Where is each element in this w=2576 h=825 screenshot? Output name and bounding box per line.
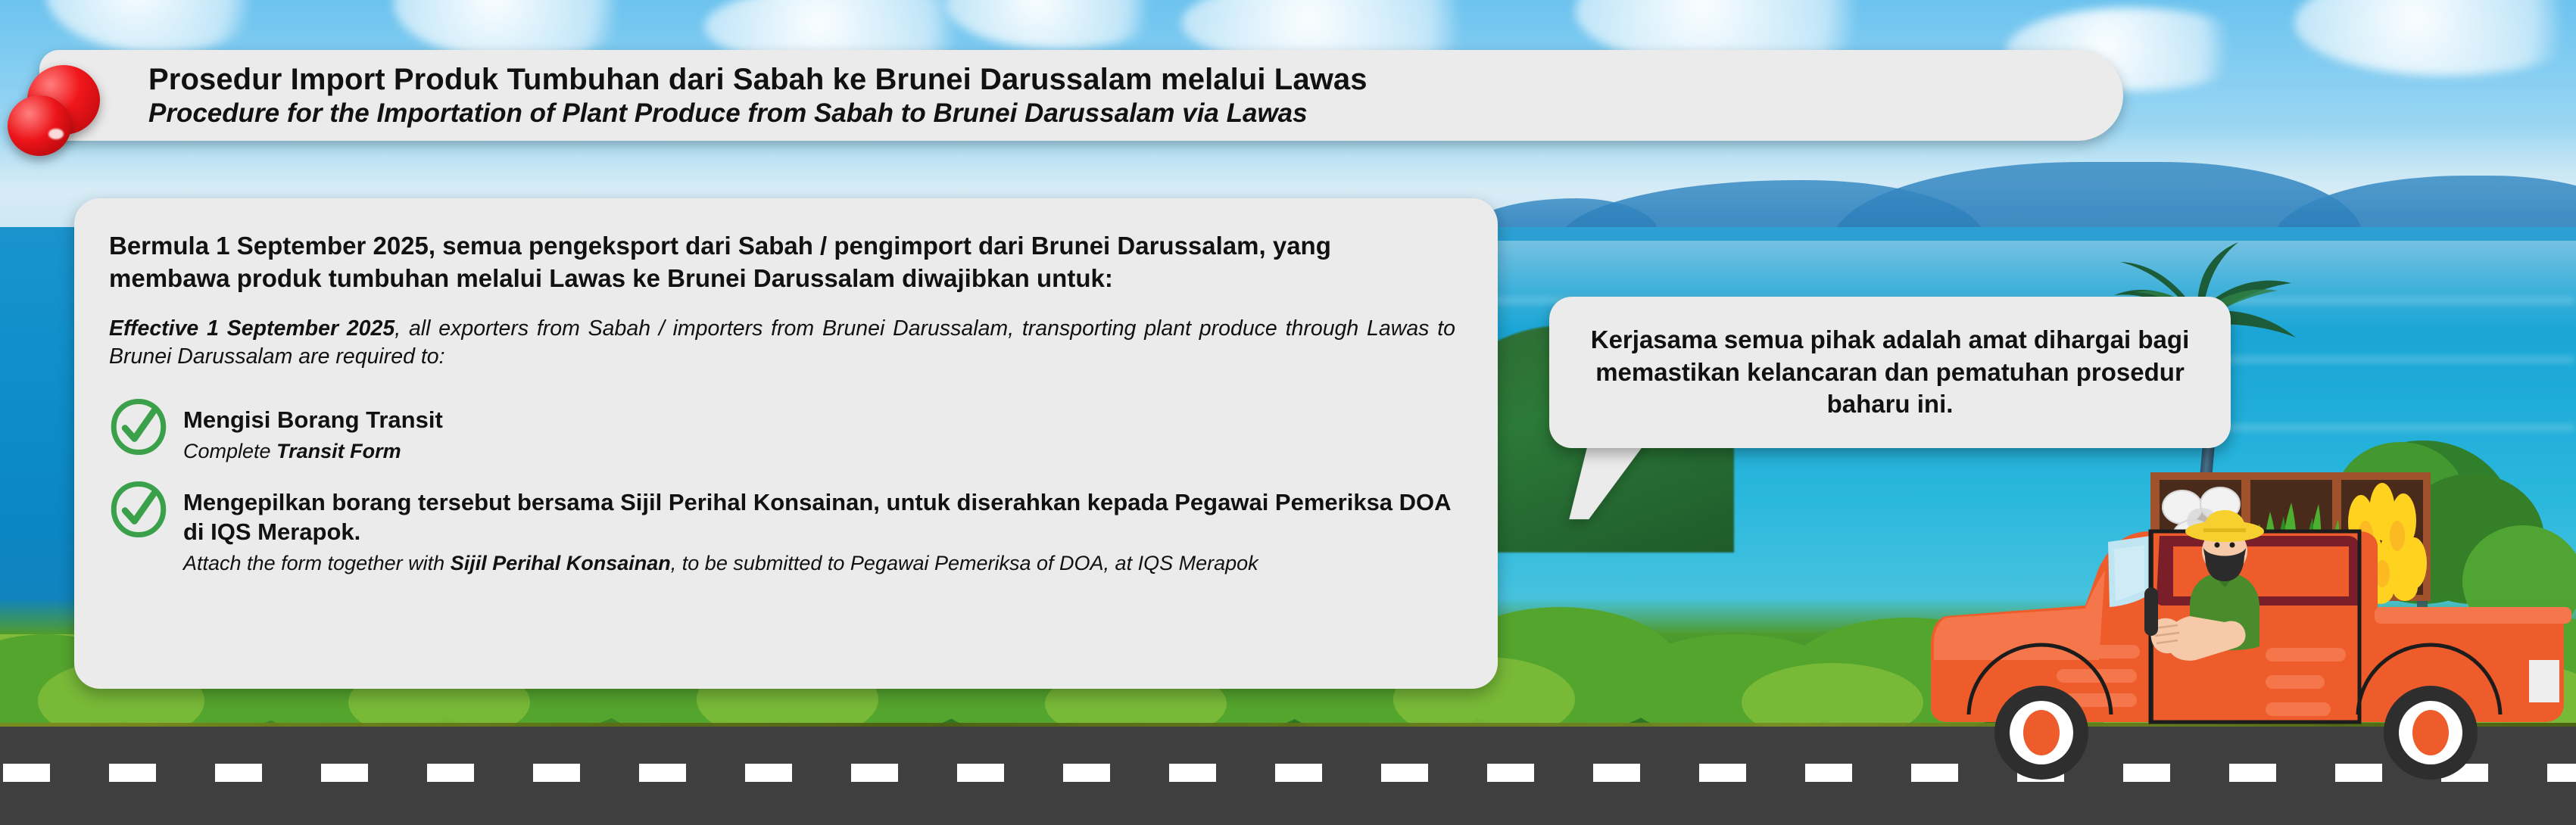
check-circle-icon	[109, 480, 168, 539]
truck-wheel	[1994, 686, 2088, 780]
road-dash	[1169, 764, 1216, 782]
speech-bubble: Kerjasama semua pihak adalah amat diharg…	[1549, 297, 2231, 448]
road-dash	[321, 764, 368, 782]
bullet-malay: Mengepilkan borang tersebut bersama Siji…	[183, 487, 1455, 547]
page-subtitle: Procedure for the Importation of Plant P…	[148, 98, 2123, 128]
road-dash	[1593, 764, 1640, 782]
infographic-poster: Prosedur Import Produk Tumbuhan dari Sab…	[0, 0, 2576, 825]
main-content-panel: Bermula 1 September 2025, semua pengeksp…	[74, 198, 1498, 689]
requirements-list: Mengisi Borang Transit Complete Transit …	[109, 402, 1455, 577]
intro-english: Effective 1 September 2025, all exporter…	[109, 315, 1455, 372]
road-dash	[851, 764, 898, 782]
title-banner: Prosedur Import Produk Tumbuhan dari Sab…	[39, 50, 2123, 141]
road-dash	[215, 764, 262, 782]
bullet-english: Attach the form together with Sijil Peri…	[183, 550, 1455, 577]
check-circle-icon	[109, 397, 168, 456]
intro-malay-lead: Bermula 1 September 2025,	[109, 232, 435, 260]
bullet-english-bold: Transit Form	[276, 440, 401, 462]
list-item: Mengisi Borang Transit Complete Transit …	[109, 402, 1455, 465]
bullet-malay: Mengisi Borang Transit	[183, 405, 1455, 435]
road-dash	[1381, 764, 1428, 782]
road-dash	[533, 764, 580, 782]
pushpin-highlight	[48, 129, 64, 139]
road-dash	[957, 764, 1004, 782]
road-dash	[1063, 764, 1110, 782]
bullet-english-suffix: , to be submitted to Pegawai Pemeriksa o…	[671, 552, 1258, 574]
road-dash	[1805, 764, 1852, 782]
list-item: Mengepilkan borang tersebut bersama Siji…	[109, 484, 1455, 577]
road-dash	[109, 764, 156, 782]
list-item-text: Mengisi Borang Transit Complete Transit …	[183, 402, 1455, 465]
road-dash	[1699, 764, 1746, 782]
intro-english-lead: Effective 1 September 2025	[109, 316, 395, 341]
list-item-text: Mengepilkan borang tersebut bersama Siji…	[183, 484, 1455, 577]
road-dash	[745, 764, 792, 782]
bullet-english-bold: Sijil Perihal Konsainan	[451, 552, 671, 574]
orange-pickup-truck	[1923, 457, 2576, 790]
road-dash	[639, 764, 686, 782]
road-dash	[1487, 764, 1534, 782]
truck-wheel	[2384, 686, 2478, 780]
bullet-english: Complete Transit Form	[183, 438, 1455, 465]
intro-malay: Bermula 1 September 2025, semua pengeksp…	[109, 230, 1455, 295]
bullet-english-prefix: Attach the form together with	[183, 552, 451, 574]
red-pushpin-icon	[6, 56, 120, 162]
road-dash	[427, 764, 474, 782]
pushpin-knob	[8, 95, 71, 156]
road-dash	[1275, 764, 1322, 782]
speech-bubble-text: Kerjasama semua pihak adalah amat diharg…	[1575, 324, 2205, 422]
page-title: Prosedur Import Produk Tumbuhan dari Sab…	[148, 63, 2123, 97]
bullet-english-prefix: Complete	[183, 440, 276, 462]
road-dash	[3, 764, 50, 782]
